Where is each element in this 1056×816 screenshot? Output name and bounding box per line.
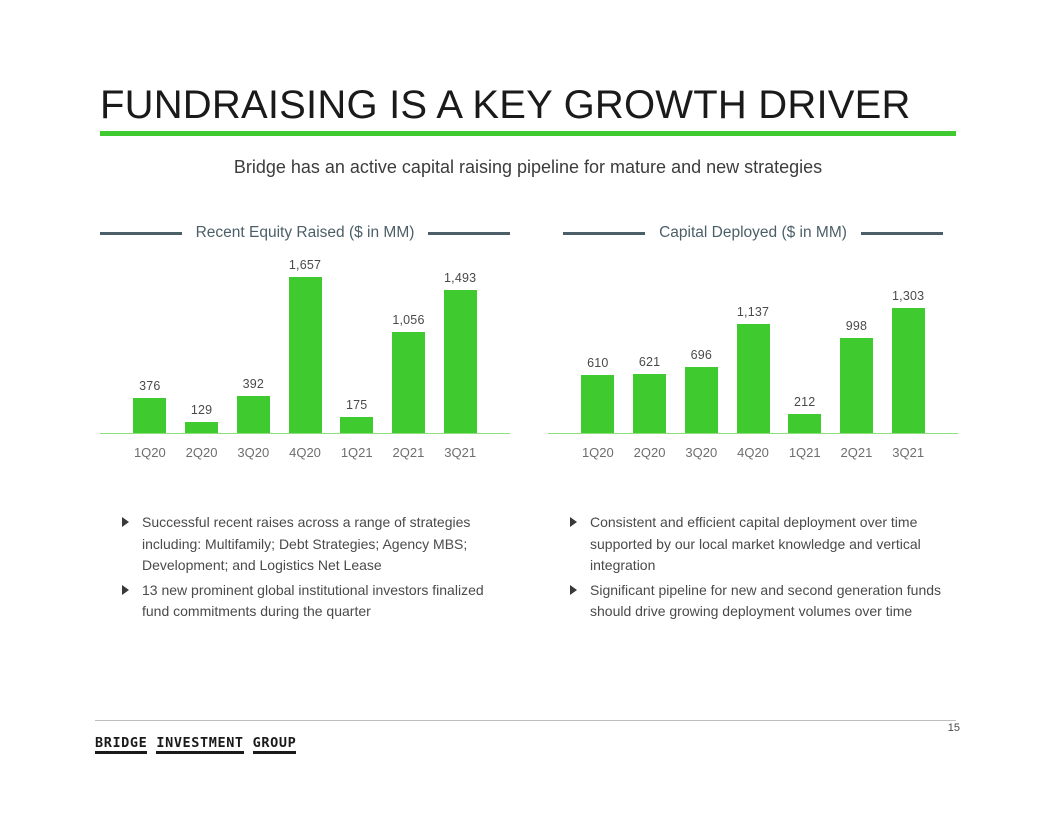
panel-header-left: Recent Equity Raised ($ in MM) bbox=[100, 222, 510, 244]
axis-tick-label: 2Q20 bbox=[624, 445, 676, 460]
bar bbox=[392, 332, 425, 434]
header-rule-left bbox=[100, 232, 182, 235]
axis-tick-label: 4Q20 bbox=[727, 445, 779, 460]
axis-tick-label: 3Q20 bbox=[675, 445, 727, 460]
bar-value-label: 175 bbox=[346, 398, 367, 412]
slide: FUNDRAISING IS A KEY GROWTH DRIVER Bridg… bbox=[0, 0, 1056, 816]
bar-value-label: 1,303 bbox=[892, 289, 924, 303]
bullet-item: 13 new prominent global institutional in… bbox=[118, 580, 504, 623]
bar-value-label: 376 bbox=[139, 379, 160, 393]
axis-tick-label: 3Q20 bbox=[227, 445, 279, 460]
logo-word: GROUP bbox=[253, 736, 297, 754]
chart-recent-equity-raised: 3761293921,6571751,0561,493 1Q202Q203Q20… bbox=[100, 258, 510, 468]
panel-capital-deployed: Capital Deployed ($ in MM) 6106216961,13… bbox=[548, 222, 958, 468]
plot-area-left: 3761293921,6571751,0561,493 bbox=[124, 258, 486, 434]
axis-tick-label: 2Q21 bbox=[831, 445, 883, 460]
bullet-text: Consistent and efficient capital deploym… bbox=[590, 514, 921, 573]
bar-slot: 392 bbox=[227, 258, 279, 434]
bar bbox=[633, 374, 666, 434]
bar-value-label: 610 bbox=[587, 356, 608, 370]
bar-value-label: 392 bbox=[243, 377, 264, 391]
bar-value-label: 1,493 bbox=[444, 271, 476, 285]
axis-line-left bbox=[100, 433, 510, 435]
bar-slot: 610 bbox=[572, 258, 624, 434]
bullet-text: 13 new prominent global institutional in… bbox=[142, 582, 484, 620]
bar-slot: 175 bbox=[331, 258, 383, 434]
axis-tick-label: 2Q21 bbox=[383, 445, 435, 460]
header-rule-left bbox=[563, 232, 645, 235]
plot-area-right: 6106216961,1372129981,303 bbox=[572, 258, 934, 434]
bullet-item: Successful recent raises across a range … bbox=[118, 512, 504, 577]
page-title: FUNDRAISING IS A KEY GROWTH DRIVER bbox=[100, 83, 911, 128]
title-underline-rule bbox=[100, 131, 956, 136]
bar-value-label: 696 bbox=[691, 348, 712, 362]
axis-tick-label: 4Q20 bbox=[279, 445, 331, 460]
bar-value-label: 1,657 bbox=[289, 258, 321, 272]
axis-tick-label: 1Q20 bbox=[572, 445, 624, 460]
axis-tick-label: 3Q21 bbox=[882, 445, 934, 460]
bar bbox=[788, 414, 821, 434]
bar-value-label: 129 bbox=[191, 403, 212, 417]
bar bbox=[444, 290, 477, 434]
panel-recent-equity-raised: Recent Equity Raised ($ in MM) 376129392… bbox=[100, 222, 510, 468]
axis-tick-label: 1Q20 bbox=[124, 445, 176, 460]
page-number: 15 bbox=[948, 722, 960, 734]
bar bbox=[737, 324, 770, 434]
bar bbox=[289, 277, 322, 434]
bar-group-left: 3761293921,6571751,0561,493 bbox=[124, 258, 486, 434]
bar bbox=[892, 308, 925, 434]
axis-tick-label: 3Q21 bbox=[434, 445, 486, 460]
bar-slot: 696 bbox=[675, 258, 727, 434]
axis-tick-label: 2Q20 bbox=[176, 445, 228, 460]
bridge-investment-group-logo: BRIDGEINVESTMENTGROUP bbox=[95, 736, 296, 754]
bullet-text: Successful recent raises across a range … bbox=[142, 514, 470, 573]
bar-value-label: 621 bbox=[639, 355, 660, 369]
bar-value-label: 998 bbox=[846, 319, 867, 333]
footer-divider bbox=[95, 720, 956, 721]
axis-tick-label: 1Q21 bbox=[331, 445, 383, 460]
bar-value-label: 1,056 bbox=[392, 313, 424, 327]
bullet-item: Significant pipeline for new and second … bbox=[566, 580, 952, 623]
bar-value-label: 1,137 bbox=[737, 305, 769, 319]
header-rule-right bbox=[861, 232, 943, 235]
bar-slot: 1,137 bbox=[727, 258, 779, 434]
bar-slot: 1,493 bbox=[434, 258, 486, 434]
axis-line-right bbox=[548, 433, 958, 435]
bullet-item: Consistent and efficient capital deploym… bbox=[566, 512, 952, 577]
bar-slot: 998 bbox=[831, 258, 883, 434]
axis-labels-right: 1Q202Q203Q204Q201Q212Q213Q21 bbox=[572, 445, 934, 460]
panel-title-left: Recent Equity Raised ($ in MM) bbox=[196, 224, 415, 242]
triangle-bullet-icon bbox=[570, 517, 577, 527]
bar-slot: 212 bbox=[779, 258, 831, 434]
bullet-list-left: Successful recent raises across a range … bbox=[118, 512, 504, 626]
bar bbox=[685, 367, 718, 434]
bar bbox=[581, 375, 614, 434]
header-rule-right bbox=[428, 232, 510, 235]
panel-title-right: Capital Deployed ($ in MM) bbox=[659, 224, 847, 242]
triangle-bullet-icon bbox=[122, 517, 129, 527]
triangle-bullet-icon bbox=[122, 585, 129, 595]
bar-slot: 1,056 bbox=[383, 258, 435, 434]
bar-slot: 129 bbox=[176, 258, 228, 434]
chart-capital-deployed: 6106216961,1372129981,303 1Q202Q203Q204Q… bbox=[548, 258, 958, 468]
bar bbox=[237, 396, 270, 434]
logo-word: BRIDGE bbox=[95, 736, 147, 754]
bar bbox=[840, 338, 873, 434]
bar-slot: 376 bbox=[124, 258, 176, 434]
axis-tick-label: 1Q21 bbox=[779, 445, 831, 460]
bullet-text: Significant pipeline for new and second … bbox=[590, 582, 941, 620]
triangle-bullet-icon bbox=[570, 585, 577, 595]
axis-labels-left: 1Q202Q203Q204Q201Q212Q213Q21 bbox=[124, 445, 486, 460]
bar bbox=[133, 398, 166, 434]
bullet-list-right: Consistent and efficient capital deploym… bbox=[566, 512, 952, 626]
bar-value-label: 212 bbox=[794, 395, 815, 409]
bar bbox=[340, 417, 373, 434]
bar-slot: 1,657 bbox=[279, 258, 331, 434]
bar-slot: 621 bbox=[624, 258, 676, 434]
logo-word: INVESTMENT bbox=[156, 736, 243, 754]
bar-slot: 1,303 bbox=[882, 258, 934, 434]
bar-group-right: 6106216961,1372129981,303 bbox=[572, 258, 934, 434]
page-subtitle: Bridge has an active capital raising pip… bbox=[0, 157, 1056, 178]
panel-header-right: Capital Deployed ($ in MM) bbox=[548, 222, 958, 244]
